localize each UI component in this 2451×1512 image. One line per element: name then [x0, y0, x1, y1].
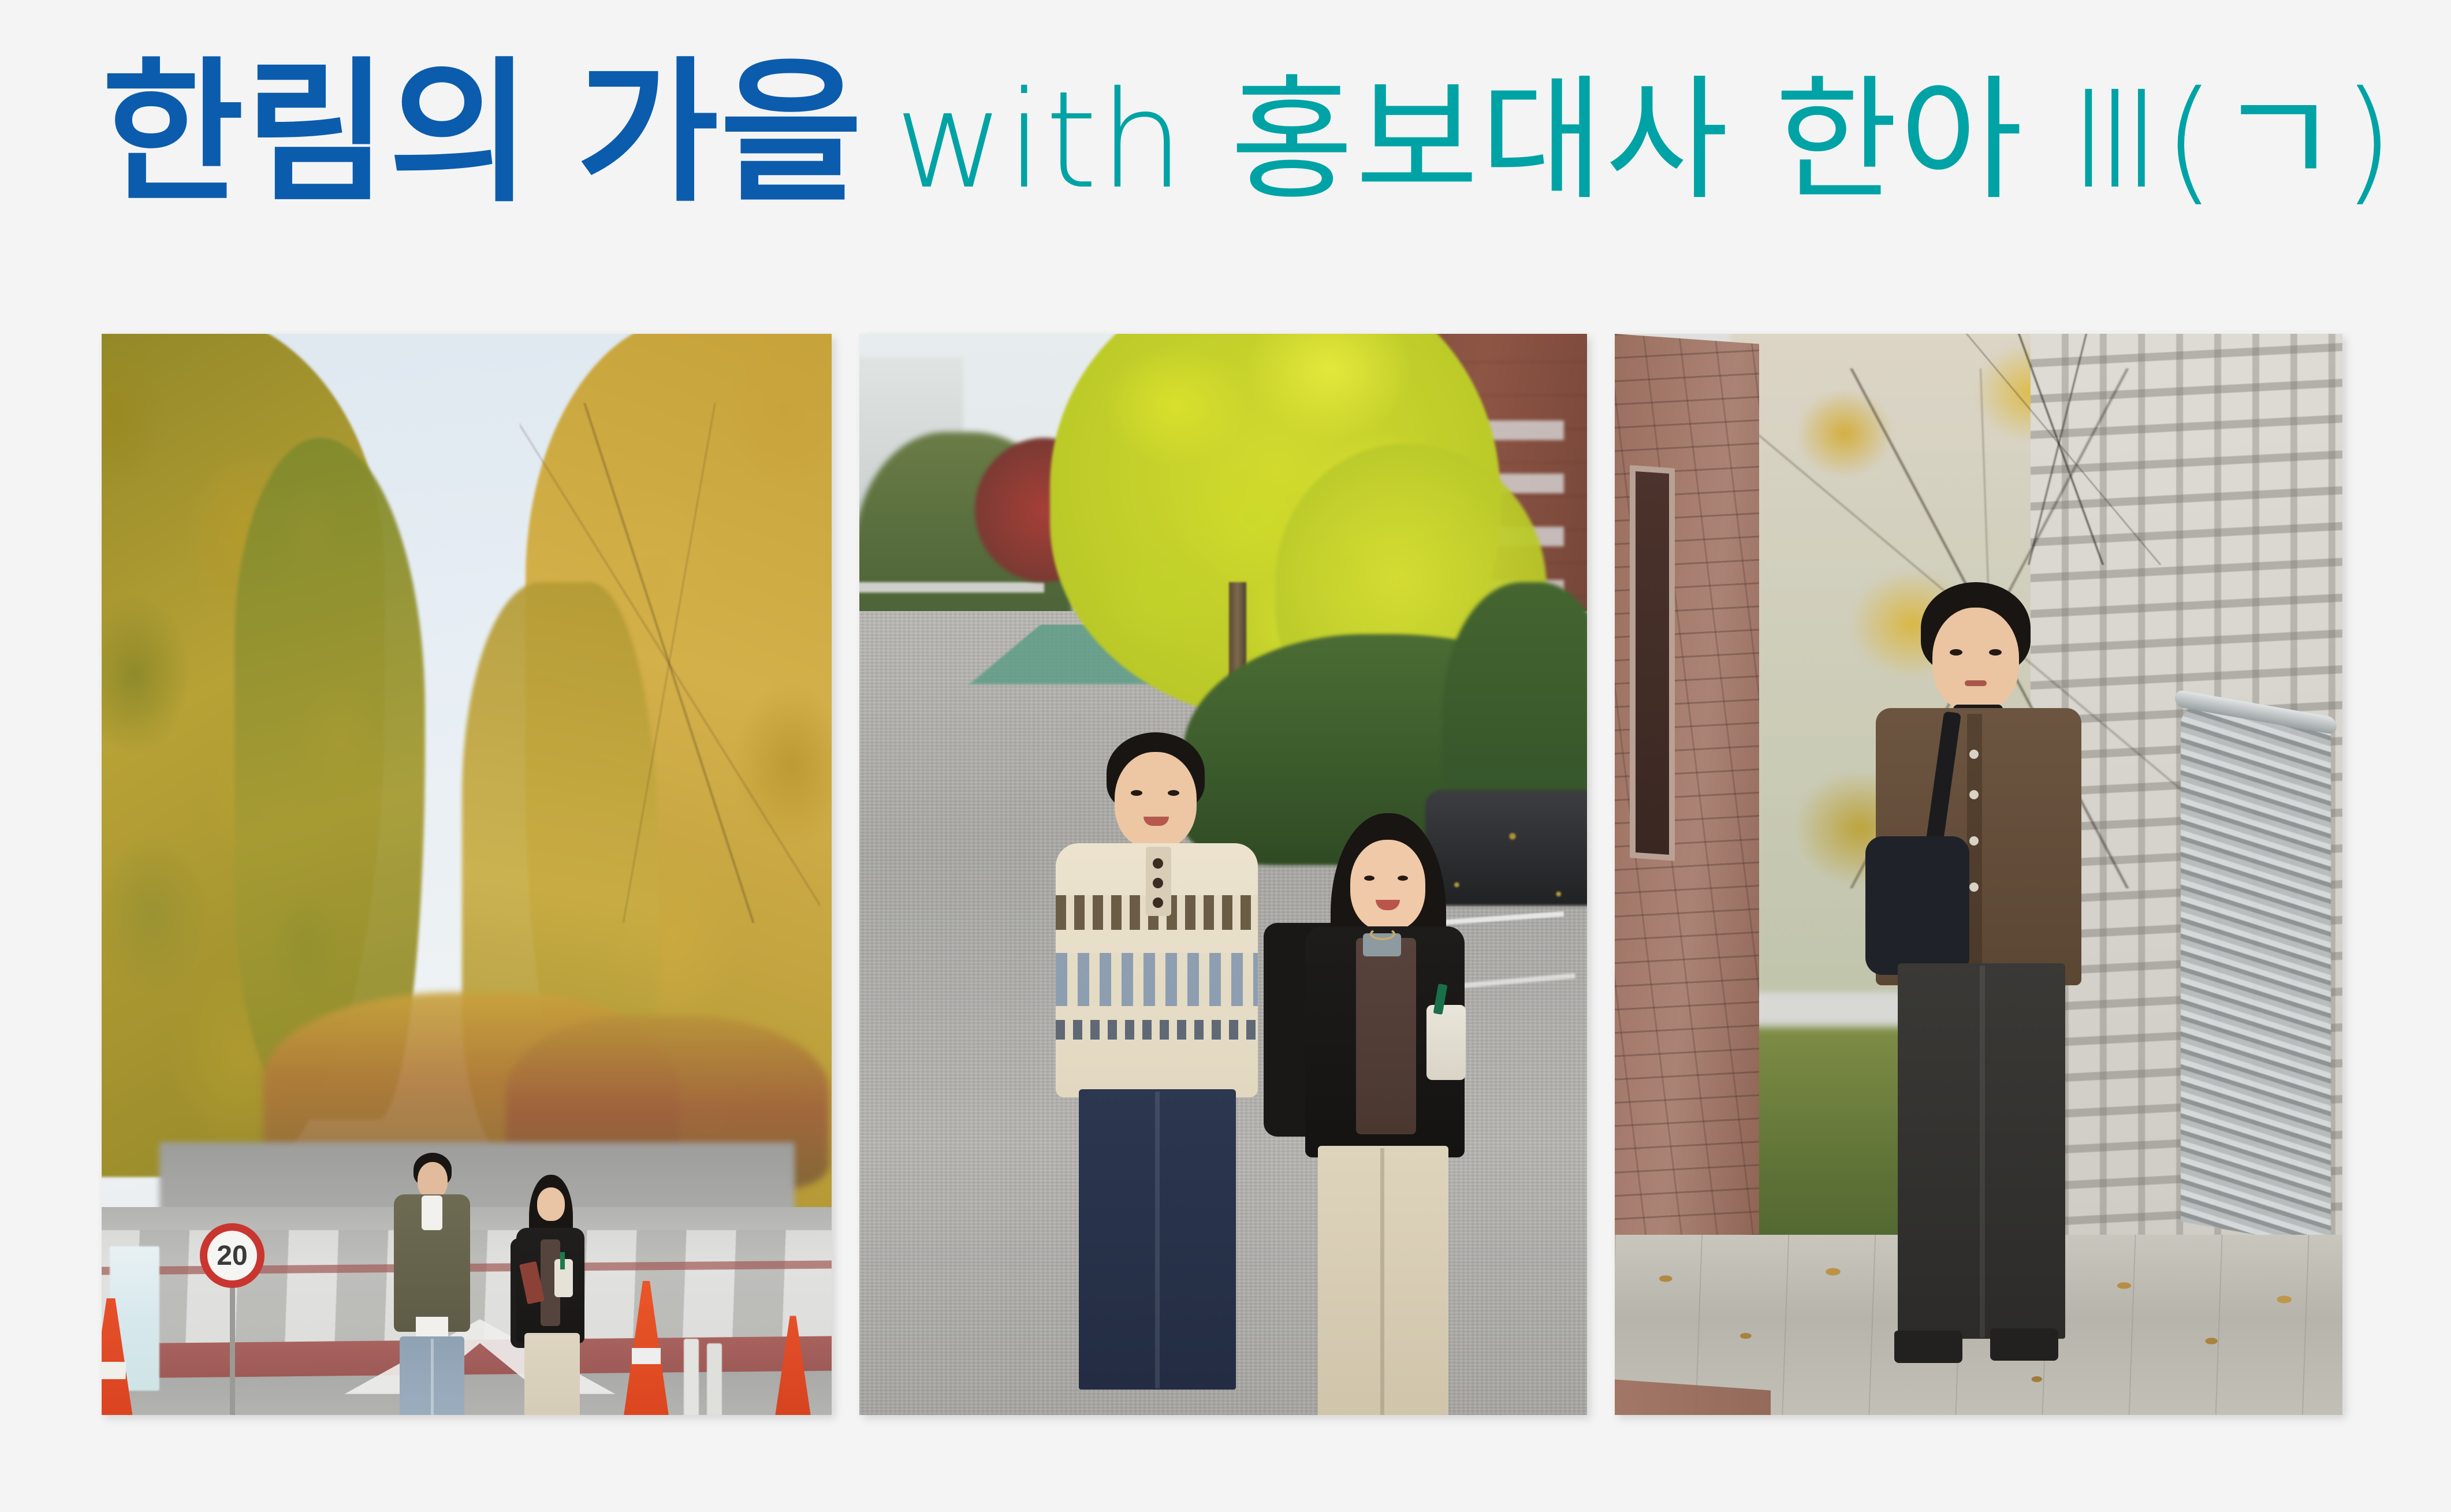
photo-1-male-student — [377, 1153, 486, 1415]
right-eye — [1989, 649, 2002, 656]
right-shoe — [1990, 1328, 2058, 1361]
drink-straw — [560, 1252, 565, 1269]
speed-limit-sign: 20 — [200, 1223, 265, 1288]
cardigan-button-3 — [1969, 836, 1979, 846]
photo-gallery: 20 — [102, 334, 2345, 1415]
title-primary: 한림의 가을 — [102, 55, 863, 210]
sweater-pattern-band-3 — [1056, 1020, 1258, 1040]
jeans-center-seam — [1980, 966, 1985, 1338]
head — [1932, 608, 2019, 712]
photo-3-scene — [1615, 334, 2342, 1415]
bollard-1 — [684, 1339, 699, 1415]
mouth — [1965, 680, 1987, 686]
jeans-center-seam — [431, 1339, 434, 1415]
right-eye — [1168, 790, 1179, 796]
sweater-pattern-band-2 — [1056, 953, 1258, 1006]
sweater-button-3 — [1153, 897, 1163, 908]
beige-wide-pants — [524, 1333, 580, 1415]
sweater-button-1 — [1153, 858, 1163, 869]
tumbler-cup — [1426, 1005, 1466, 1080]
photo-1-female-student — [500, 1178, 602, 1415]
traffic-cone-left-band — [102, 1362, 126, 1379]
page-title: 한림의 가을 with 홍보대사 한아 Ⅲ(ㄱ) — [102, 55, 2354, 263]
head — [1350, 840, 1425, 931]
white-tee-collar — [422, 1196, 442, 1230]
brick-wall-window — [1630, 465, 1675, 861]
pants-center-seam — [1380, 1148, 1384, 1415]
necklace — [1370, 928, 1395, 940]
photo-2-female-student — [1275, 819, 1506, 1414]
photo-3-male-student — [1852, 582, 2123, 1385]
left-shoe — [1894, 1331, 1962, 1363]
traffic-cone-center-band — [632, 1348, 661, 1364]
gallery-photo-3[interactable] — [1615, 334, 2342, 1415]
photo-2-male-student — [1033, 732, 1281, 1414]
head — [418, 1162, 448, 1199]
head — [537, 1187, 565, 1221]
bare-branches — [520, 403, 820, 923]
cardigan-button-4 — [1969, 882, 1979, 892]
jeans-center-seam — [1155, 1092, 1160, 1388]
sweater-button-2 — [1153, 878, 1163, 888]
left-eye — [1364, 876, 1375, 881]
gallery-photo-2[interactable] — [859, 334, 1587, 1415]
right-eye — [1398, 876, 1408, 881]
bare-branches-upper — [1811, 334, 2308, 565]
brown-tshirt — [1356, 938, 1416, 1134]
left-eye — [1950, 649, 1962, 656]
title-secondary: with 홍보대사 한아 Ⅲ(ㄱ) — [895, 73, 2396, 207]
cardigan-button-1 — [1969, 750, 1979, 759]
head — [1115, 752, 1197, 849]
photo-2-scene — [859, 334, 1587, 1415]
curb — [859, 582, 1044, 593]
photo-1-scene: 20 — [102, 334, 832, 1415]
backpack — [1865, 836, 1969, 975]
cardigan-button-2 — [1969, 790, 1979, 799]
gallery-photo-1[interactable]: 20 — [102, 334, 832, 1415]
left-eye — [1131, 790, 1142, 796]
metal-handrail — [2181, 702, 2331, 1248]
bollard-2 — [707, 1343, 722, 1415]
